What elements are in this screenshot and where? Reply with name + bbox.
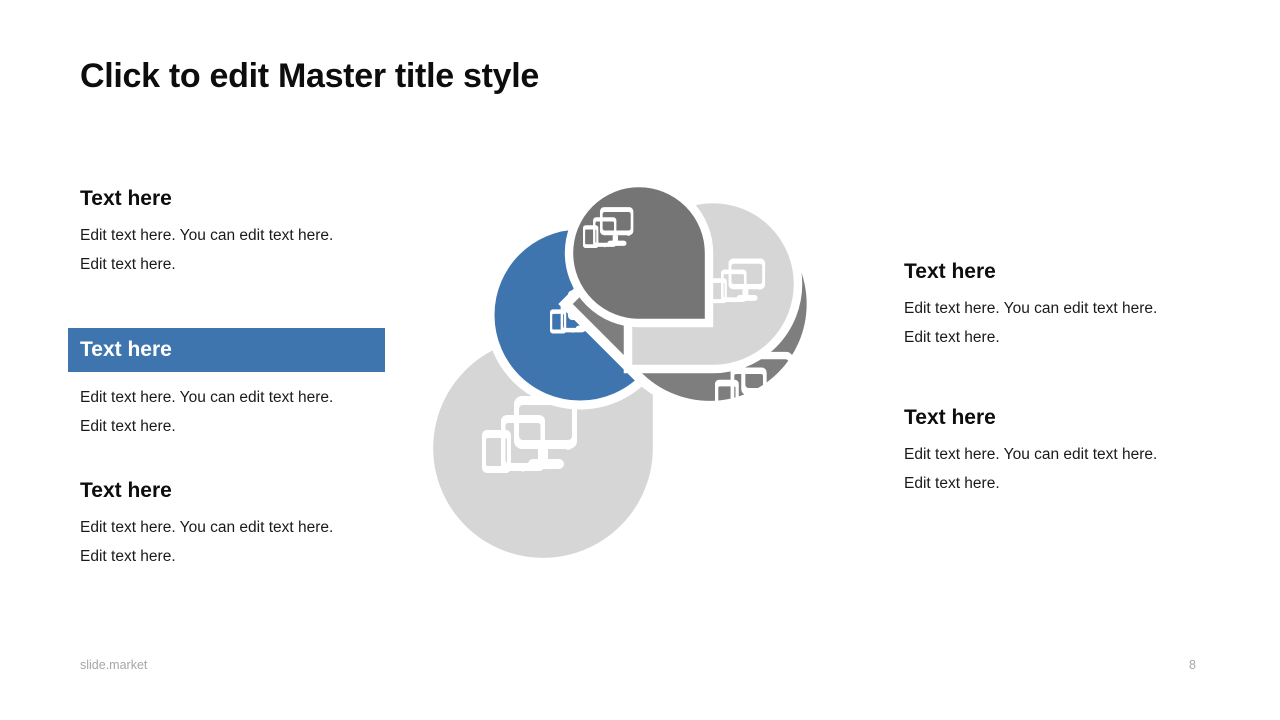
left-block-2-heading-highlighted[interactable]: Text here (68, 328, 385, 372)
right-block-1-heading[interactable]: Text here (904, 259, 1184, 285)
petal-top-gray[interactable] (569, 183, 709, 323)
left-block-1-heading[interactable]: Text here (80, 186, 360, 212)
radial-petal-diagram[interactable] (420, 175, 870, 585)
left-block-1-body[interactable]: Edit text here. You can edit text here. … (80, 222, 360, 279)
right-block-1-body[interactable]: Edit text here. You can edit text here. … (904, 295, 1184, 352)
left-block-3-body[interactable]: Edit text here. You can edit text here. … (80, 514, 360, 571)
right-block-2-heading[interactable]: Text here (904, 405, 1184, 431)
right-text-column: Text here Edit text here. You can edit t… (904, 0, 1224, 720)
slide-canvas: Click to edit Master title style Text he… (0, 0, 1280, 720)
right-block-2: Text here Edit text here. You can edit t… (904, 405, 1184, 498)
left-block-3-heading[interactable]: Text here (80, 478, 360, 504)
left-block-1: Text here Edit text here. You can edit t… (80, 186, 360, 279)
left-block-2: Text here Edit text here. You can edit t… (80, 328, 385, 441)
page-number: 8 (1189, 658, 1196, 672)
right-block-2-body[interactable]: Edit text here. You can edit text here. … (904, 441, 1184, 498)
left-block-2-body[interactable]: Edit text here. You can edit text here. … (80, 384, 360, 441)
left-text-column: Text here Edit text here. You can edit t… (80, 0, 400, 720)
right-block-1: Text here Edit text here. You can edit t… (904, 259, 1184, 352)
footer-brand: slide.market (80, 658, 147, 672)
left-block-3: Text here Edit text here. You can edit t… (80, 478, 360, 571)
